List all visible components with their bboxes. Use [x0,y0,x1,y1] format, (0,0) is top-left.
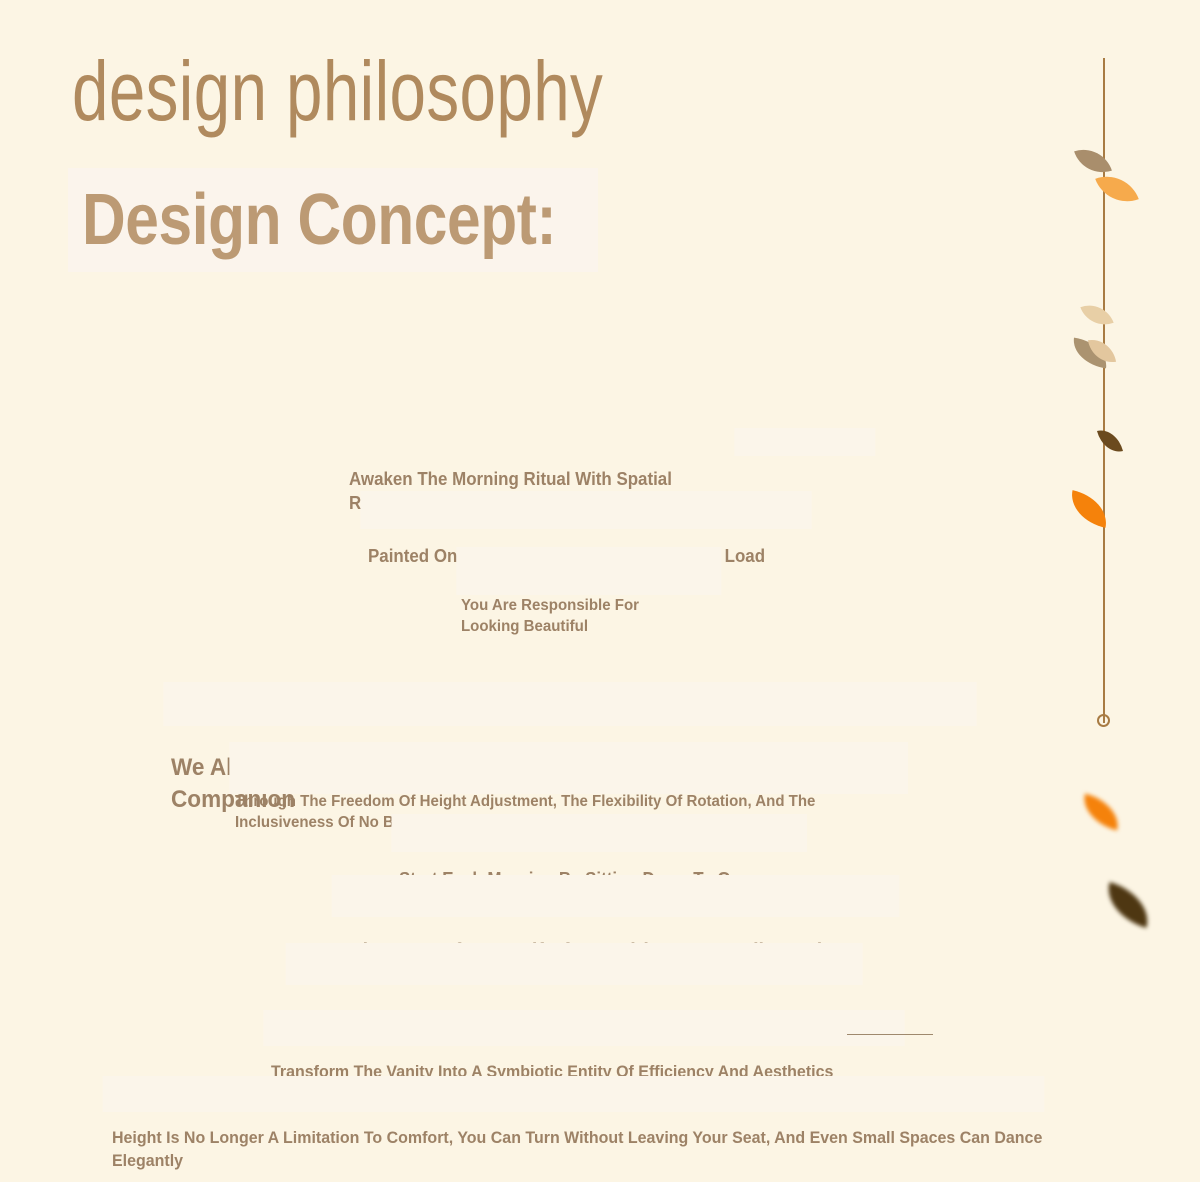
statement-text-3: You Are Responsible For Looking Beautifu… [461,595,720,638]
page-kicker: design philosophy [72,46,603,137]
statement-text-10: Height Is No Longer A Limitation To Comf… [112,1127,1052,1172]
statement-highlight-10 [103,1076,1045,1112]
statement-highlight-7 [332,875,900,917]
leaf-amber-upper-icon [1095,167,1139,211]
statement-line-10: Height Is No Longer A Limitation To Comf… [112,1082,1052,1182]
poster-canvas: design philosophy Design Concept: Awaken… [0,0,1200,1182]
statement-highlight-5 [229,742,908,794]
decorative-rule [847,1034,933,1035]
leaf-darkbrown-small-icon [1097,426,1123,456]
leaf-taupe-upper-icon [1074,142,1112,180]
leaf-darkbrown-floating-icon [1100,882,1156,928]
leaf-orange-floating-icon [1078,794,1124,831]
statement-line-3: You Are Responsible For Looking Beautifu… [461,552,720,658]
statement-highlight-8 [286,943,863,985]
statement-highlight-9 [263,1010,904,1046]
vine-end-circle-icon [1097,714,1110,727]
statement-highlight-3 [456,547,721,595]
statement-highlight-1 [734,428,875,456]
statement-highlight-4 [163,682,976,726]
statement-highlight-2 [360,491,811,529]
statement-highlight-6 [391,814,806,852]
page-title: Design Concept: [82,174,556,268]
leaf-cream-mid-icon [1080,298,1113,331]
